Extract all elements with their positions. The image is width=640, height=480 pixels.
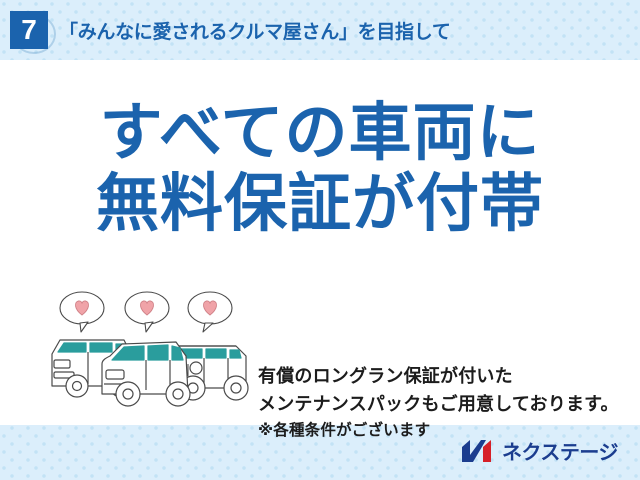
car-minivan [102, 342, 190, 406]
cars-illustration-svg [50, 290, 250, 410]
brand-logo-text: ネクステージ [502, 436, 618, 465]
brand-logo: ネクステージ [461, 436, 618, 465]
content-panel: すべての車両に 無料保証が付帯 [0, 60, 640, 425]
body-copy-line-2: メンテナンスパックもご用意しております。 [258, 390, 619, 418]
header-title: 「みんなに愛されるクルマ屋さん」を目指して [59, 17, 451, 44]
banner-header: 7 「みんなに愛されるクルマ屋さん」を目指して [0, 0, 640, 60]
section-number-badge: 7 [10, 11, 48, 49]
headline-line-2: 無料保証が付帯 [0, 169, 640, 240]
headline-line-1: すべての車両に [0, 98, 640, 169]
lower-content-row: 有償のロングラン保証が付いた メンテナンスパックもご用意しております。 ※各種条… [0, 290, 640, 425]
promo-banner: 7 「みんなに愛されるクルマ屋さん」を目指して すべての車両に 無料保証が付帯 [0, 0, 640, 480]
cars-illustration [50, 290, 250, 410]
headline-block: すべての車両に 無料保証が付帯 [0, 98, 640, 239]
body-copy-line-1: 有償のロングラン保証が付いた [258, 362, 619, 390]
nexstage-n-mark-icon [461, 438, 495, 464]
banner-footer: ネクステージ [0, 425, 640, 480]
